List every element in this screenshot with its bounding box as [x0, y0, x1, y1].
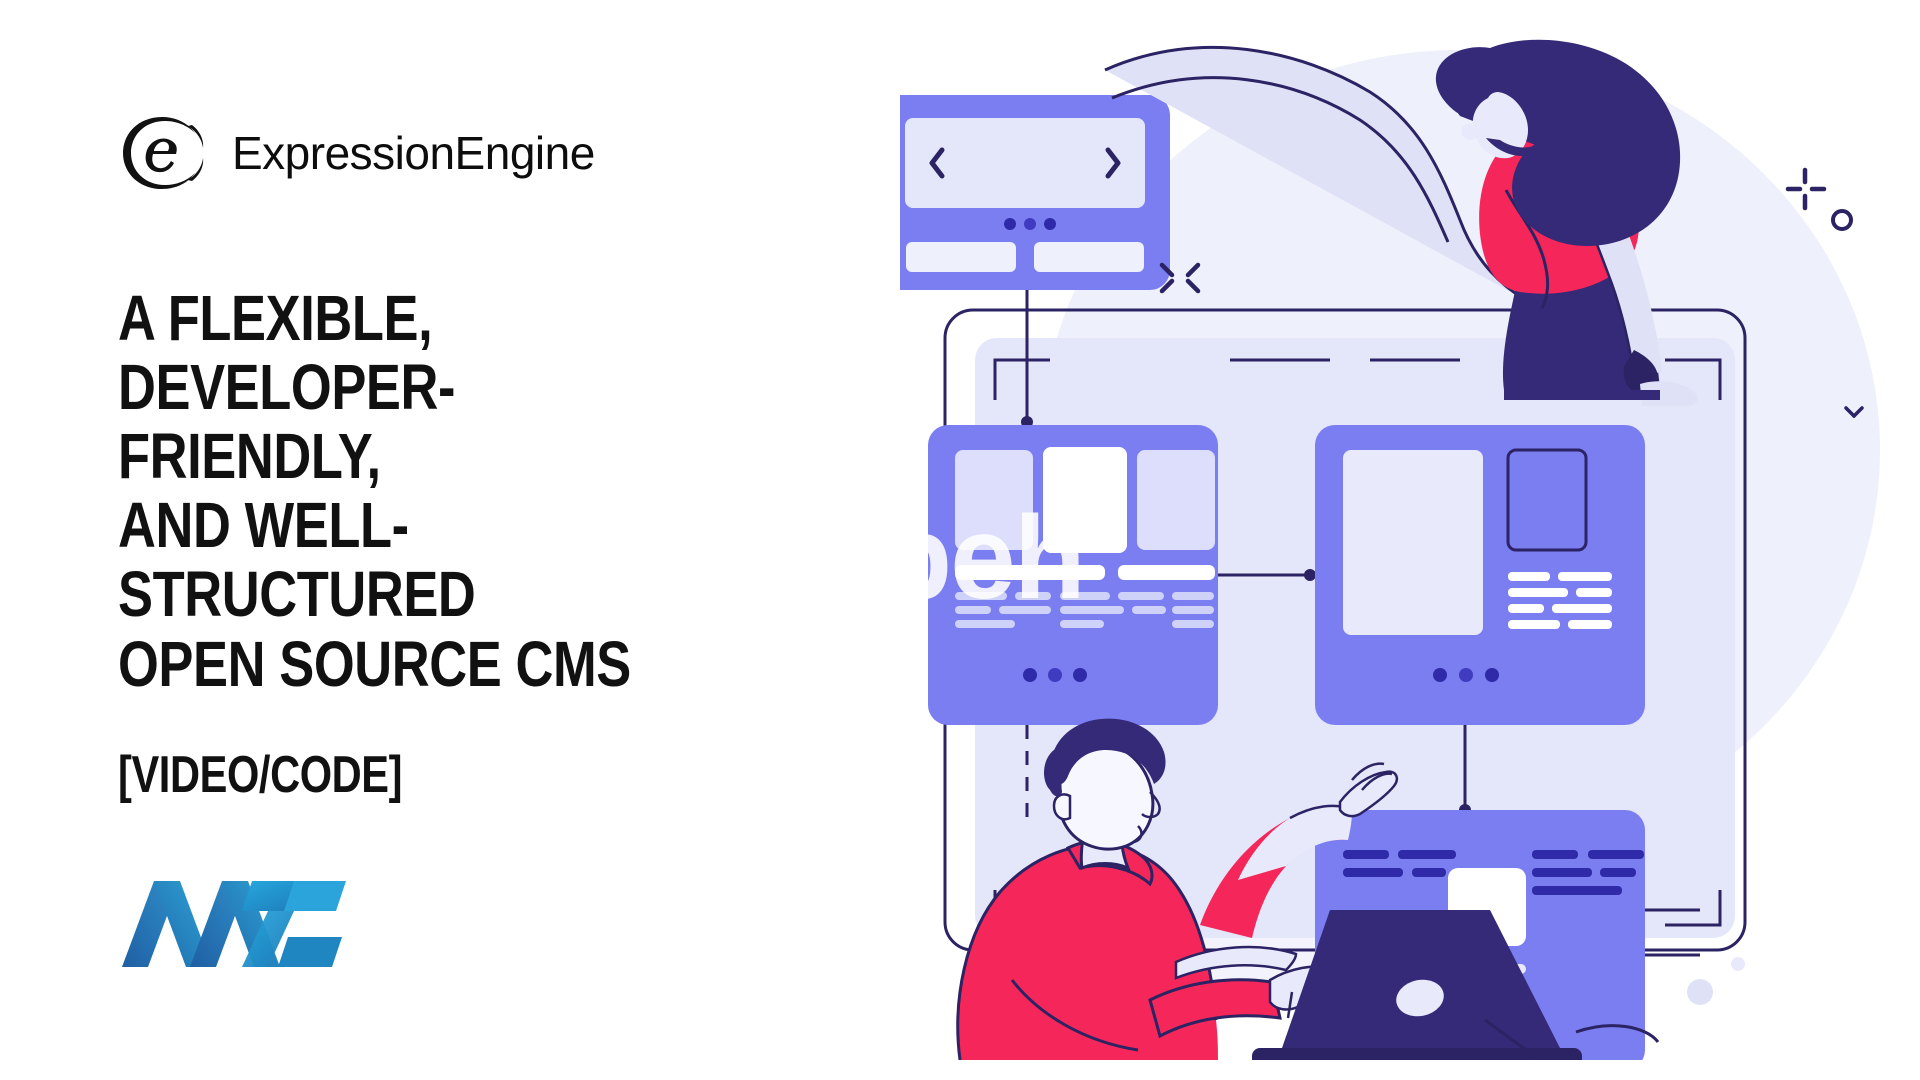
expressionengine-e-logo-icon — [118, 113, 206, 193]
circle-outline-icon-2 — [1833, 211, 1851, 229]
mti-logo-icon — [118, 867, 350, 971]
brand-lockup: ExpressionEngine — [118, 110, 838, 196]
sparkle-plus-icon — [1788, 170, 1824, 208]
carousel-card — [900, 95, 1170, 290]
brand-name: ExpressionEngine — [232, 126, 595, 180]
tagline: [VIDEO/CODE] — [118, 749, 694, 801]
cms-illustration: ppeh — [900, 20, 1910, 1060]
promo-banner: ExpressionEngine A FLEXIBLE, DEVELOPER-F… — [0, 0, 1920, 1080]
grid-card — [928, 425, 1218, 725]
left-content-column: ExpressionEngine A FLEXIBLE, DEVELOPER-F… — [118, 110, 838, 971]
page-title: A FLEXIBLE, DEVELOPER-FRIENDLY, AND WELL… — [118, 284, 708, 699]
media-card — [1315, 425, 1645, 725]
